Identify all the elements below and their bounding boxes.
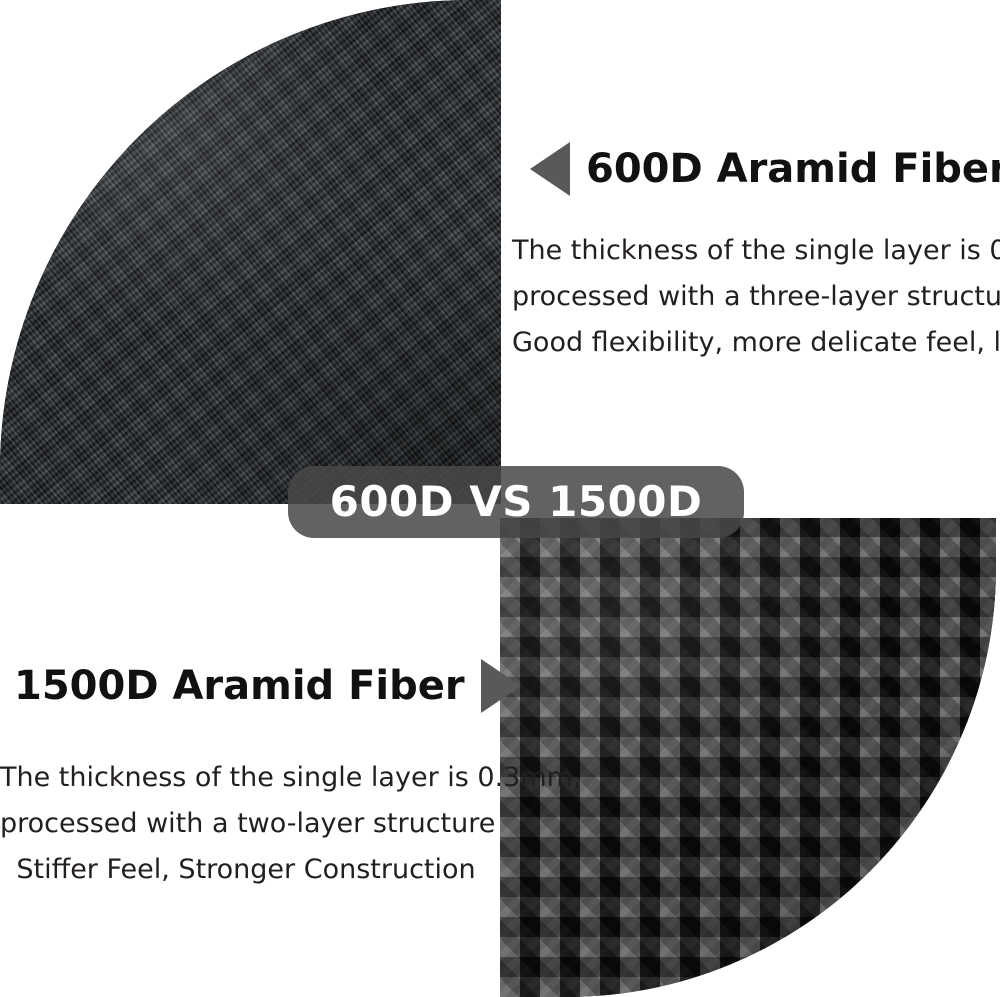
heading-row-1500d: 1500D Aramid Fiber <box>0 655 492 717</box>
info-block-600d: 600D Aramid Fiber The thickness of the s… <box>512 138 1000 366</box>
carbon-sheen-600d <box>0 0 501 504</box>
description-1500d: The thickness of the single layer is 0.3… <box>0 755 492 893</box>
description-line: processed with a three-layer structure <box>512 274 1000 320</box>
triangle-right-icon <box>481 659 521 713</box>
description-line: Good flexibility, more delicate feel, lu… <box>512 320 1000 366</box>
triangle-left-icon <box>530 142 570 196</box>
comparison-infographic: 600D VS 1500D 600D Aramid Fiber The thic… <box>0 0 1000 997</box>
heading-600d: 600D Aramid Fiber <box>586 149 1000 189</box>
description-line: The thickness of the single layer is 0.3… <box>0 755 492 801</box>
info-block-1500d: 1500D Aramid Fiber The thickness of the … <box>0 655 492 893</box>
comparison-banner: 600D VS 1500D <box>288 466 744 538</box>
comparison-banner-label: 600D VS 1500D <box>330 481 703 523</box>
carbon-sheen-1500d <box>500 518 996 997</box>
carbon-swatch-1500d <box>500 518 996 997</box>
heading-1500d: 1500D Aramid Fiber <box>14 666 465 706</box>
carbon-swatch-600d <box>0 0 501 504</box>
description-line: The thickness of the single layer is 0.2… <box>512 228 1000 274</box>
description-line: processed with a two-layer structure <box>0 801 492 847</box>
description-line: Stiffer Feel, Stronger Construction <box>0 847 492 893</box>
description-600d: The thickness of the single layer is 0.2… <box>512 228 1000 366</box>
heading-row-600d: 600D Aramid Fiber <box>512 138 1000 200</box>
